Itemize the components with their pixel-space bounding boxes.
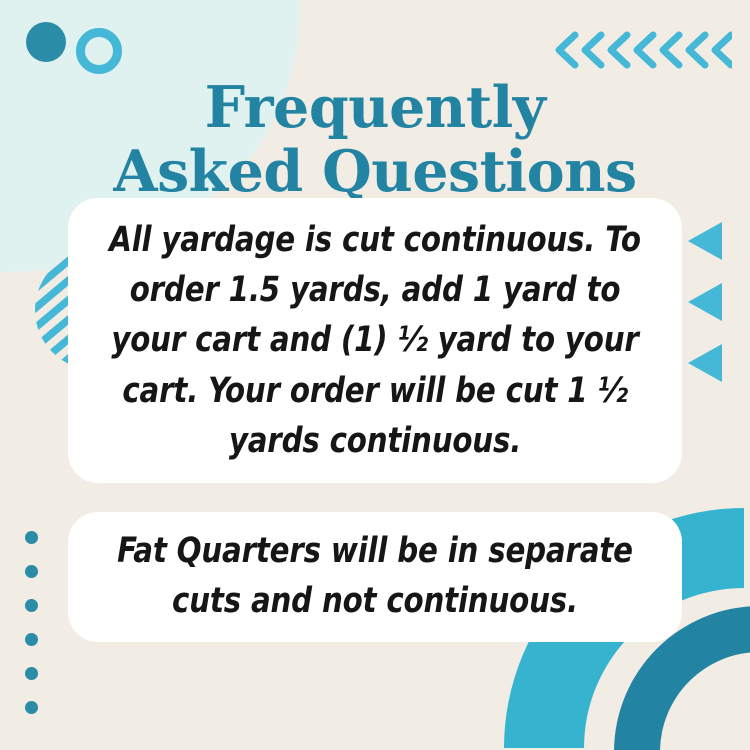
page-title: Frequently Asked Questions	[0, 76, 750, 204]
solid-dot-icon	[26, 22, 66, 62]
column-dot-icon	[25, 633, 38, 646]
column-dot-icon	[25, 599, 38, 612]
chevron-left-icon	[689, 35, 705, 65]
chevron-left-icon	[663, 35, 679, 65]
faq-card-fat-quarters-text: Fat Quarters will be in separate cuts an…	[104, 527, 645, 626]
column-dot-icon	[25, 531, 38, 544]
title-line-2: Asked Questions	[0, 140, 750, 204]
column-dot-icon	[25, 701, 38, 714]
chevron-left-group	[552, 30, 732, 70]
faq-card-yardage-text: All yardage is cut continuous. To order …	[104, 215, 645, 465]
triangle-left-icon	[688, 344, 722, 382]
chevron-left-icon	[559, 35, 575, 65]
column-dot-icon	[25, 565, 38, 578]
chevron-left-icon	[715, 35, 731, 65]
triangle-left-icon	[688, 283, 722, 321]
dot-column	[25, 531, 38, 714]
triangle-column	[688, 222, 722, 382]
chevron-left-icon	[611, 35, 627, 65]
ring-dot-icon	[76, 28, 122, 74]
faq-card-fat-quarters: Fat Quarters will be in separate cuts an…	[68, 512, 682, 642]
faq-card-yardage: All yardage is cut continuous. To order …	[68, 198, 682, 483]
faq-graphic-canvas: Frequently Asked Questions All yardage i…	[0, 0, 750, 750]
column-dot-icon	[25, 667, 38, 680]
chevron-left-icon	[585, 35, 601, 65]
title-line-1: Frequently	[205, 74, 546, 141]
chevron-left-icon	[637, 35, 653, 65]
triangle-left-icon	[688, 222, 722, 260]
